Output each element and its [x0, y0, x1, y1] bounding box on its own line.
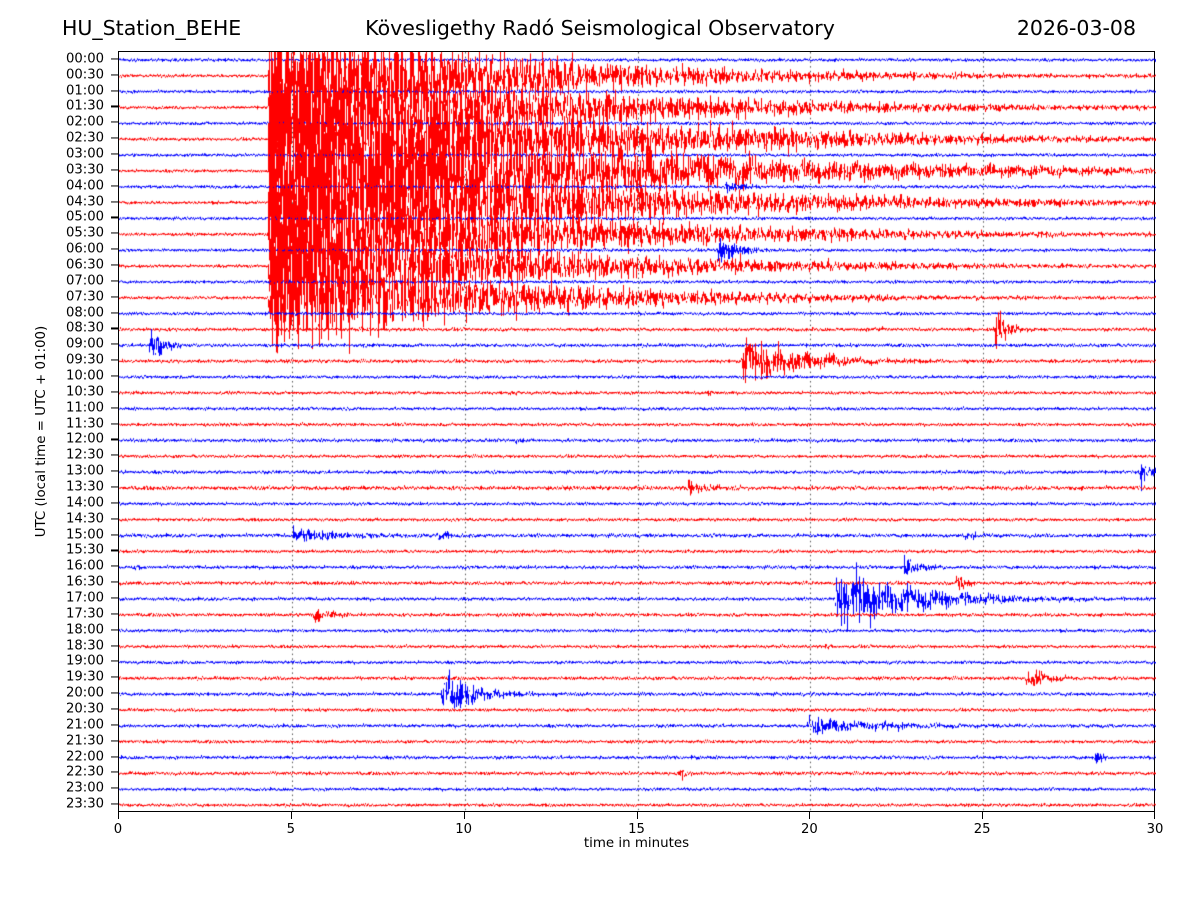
y-tick-mark: [111, 74, 118, 75]
y-tick-label: 11:00: [66, 400, 104, 415]
y-tick-label: 17:30: [66, 606, 104, 621]
y-tick-label: 14:30: [66, 511, 104, 526]
y-tick-label: 15:30: [66, 543, 104, 558]
seismogram-plot-area: [118, 51, 1155, 812]
y-tick-label: 14:00: [66, 495, 104, 510]
y-tick-label: 23:30: [66, 797, 104, 812]
y-tick-label: 06:00: [66, 242, 104, 257]
y-tick-mark: [111, 455, 118, 456]
y-tick-label: 20:30: [66, 701, 104, 716]
y-tick-label: 02:30: [66, 131, 104, 146]
y-tick-mark: [111, 597, 118, 598]
y-tick-mark: [111, 344, 118, 345]
y-tick-mark: [111, 740, 118, 741]
y-tick-label: 04:00: [66, 178, 104, 193]
x-tick-label: 15: [628, 822, 645, 837]
y-tick-label: 02:00: [66, 115, 104, 130]
y-tick-mark: [111, 645, 118, 646]
y-tick-label: 09:00: [66, 337, 104, 352]
y-tick-mark: [111, 788, 118, 789]
y-tick-label: 12:00: [66, 432, 104, 447]
y-tick-label: 18:30: [66, 638, 104, 653]
y-tick-label: 07:00: [66, 273, 104, 288]
y-tick-label: 05:00: [66, 210, 104, 225]
y-tick-mark: [111, 122, 118, 123]
y-tick-mark: [111, 804, 118, 805]
y-tick-mark: [111, 756, 118, 757]
y-tick-mark: [111, 312, 118, 313]
y-tick-mark: [111, 423, 118, 424]
y-tick-mark: [111, 471, 118, 472]
x-tick-label: 10: [455, 822, 472, 837]
y-tick-mark: [111, 439, 118, 440]
y-tick-mark: [111, 407, 118, 408]
x-tick-label: 30: [1147, 822, 1164, 837]
y-tick-label: 11:30: [66, 416, 104, 431]
y-tick-label: 03:00: [66, 147, 104, 162]
date-label: 2026-03-08: [1017, 14, 1136, 42]
y-tick-label: 22:30: [66, 765, 104, 780]
y-tick-label: 21:00: [66, 717, 104, 732]
y-tick-label: 17:00: [66, 590, 104, 605]
y-tick-mark: [111, 613, 118, 614]
y-tick-label: 21:30: [66, 733, 104, 748]
y-tick-label: 00:00: [66, 51, 104, 66]
y-tick-label: 00:30: [66, 67, 104, 82]
y-tick-label: 13:00: [66, 464, 104, 479]
y-tick-mark: [111, 534, 118, 535]
y-tick-label: 03:30: [66, 162, 104, 177]
y-tick-mark: [111, 217, 118, 218]
y-tick-label: 12:30: [66, 448, 104, 463]
y-tick-mark: [111, 264, 118, 265]
x-tick-mark: [118, 812, 119, 819]
y-tick-mark: [111, 201, 118, 202]
y-tick-mark: [111, 502, 118, 503]
x-tick-label: 5: [287, 822, 295, 837]
y-tick-mark: [111, 249, 118, 250]
y-tick-mark: [111, 582, 118, 583]
y-tick-mark: [111, 154, 118, 155]
y-tick-mark: [111, 90, 118, 91]
y-tick-label: 15:00: [66, 527, 104, 542]
x-tick-label: 0: [114, 822, 122, 837]
y-axis-ticks: 00:0000:3001:0001:3002:0002:3003:0003:30…: [0, 51, 118, 812]
y-tick-mark: [111, 661, 118, 662]
seismogram-page: HU_Station_BEHE Kövesligethy Radó Seismo…: [0, 0, 1200, 900]
x-tick-mark: [464, 812, 465, 819]
y-tick-mark: [111, 233, 118, 234]
y-tick-mark: [111, 296, 118, 297]
y-tick-label: 05:30: [66, 226, 104, 241]
y-tick-mark: [111, 58, 118, 59]
x-tick-mark: [809, 812, 810, 819]
y-tick-mark: [111, 486, 118, 487]
y-tick-mark: [111, 391, 118, 392]
y-tick-label: 23:00: [66, 781, 104, 796]
y-tick-label: 01:00: [66, 83, 104, 98]
y-tick-label: 10:30: [66, 384, 104, 399]
y-tick-label: 10:00: [66, 369, 104, 384]
y-tick-mark: [111, 677, 118, 678]
y-tick-label: 08:00: [66, 305, 104, 320]
y-tick-label: 19:30: [66, 670, 104, 685]
y-tick-mark: [111, 518, 118, 519]
y-tick-label: 09:30: [66, 353, 104, 368]
y-tick-label: 16:30: [66, 575, 104, 590]
y-tick-mark: [111, 360, 118, 361]
x-tick-label: 25: [974, 822, 991, 837]
x-axis-title: time in minutes: [118, 836, 1155, 851]
y-tick-label: 04:30: [66, 194, 104, 209]
y-tick-label: 18:00: [66, 622, 104, 637]
y-tick-label: 06:30: [66, 258, 104, 273]
seismogram-traces-canvas: [119, 52, 1156, 813]
y-tick-mark: [111, 629, 118, 630]
y-tick-mark: [111, 566, 118, 567]
y-tick-mark: [111, 138, 118, 139]
y-tick-mark: [111, 328, 118, 329]
y-tick-mark: [111, 185, 118, 186]
y-tick-label: 16:00: [66, 559, 104, 574]
y-tick-label: 08:30: [66, 321, 104, 336]
x-tick-mark: [637, 812, 638, 819]
y-tick-label: 13:30: [66, 479, 104, 494]
y-tick-label: 20:00: [66, 686, 104, 701]
x-tick-mark: [982, 812, 983, 819]
y-tick-label: 22:00: [66, 749, 104, 764]
y-tick-mark: [111, 280, 118, 281]
y-tick-mark: [111, 169, 118, 170]
y-tick-mark: [111, 693, 118, 694]
y-tick-mark: [111, 772, 118, 773]
x-tick-mark: [291, 812, 292, 819]
y-tick-mark: [111, 724, 118, 725]
y-tick-label: 19:00: [66, 654, 104, 669]
y-tick-mark: [111, 550, 118, 551]
y-tick-label: 01:30: [66, 99, 104, 114]
x-tick-mark: [1154, 812, 1155, 819]
y-tick-mark: [111, 708, 118, 709]
y-tick-label: 07:30: [66, 289, 104, 304]
x-tick-label: 20: [801, 822, 818, 837]
y-tick-mark: [111, 106, 118, 107]
y-tick-mark: [111, 375, 118, 376]
